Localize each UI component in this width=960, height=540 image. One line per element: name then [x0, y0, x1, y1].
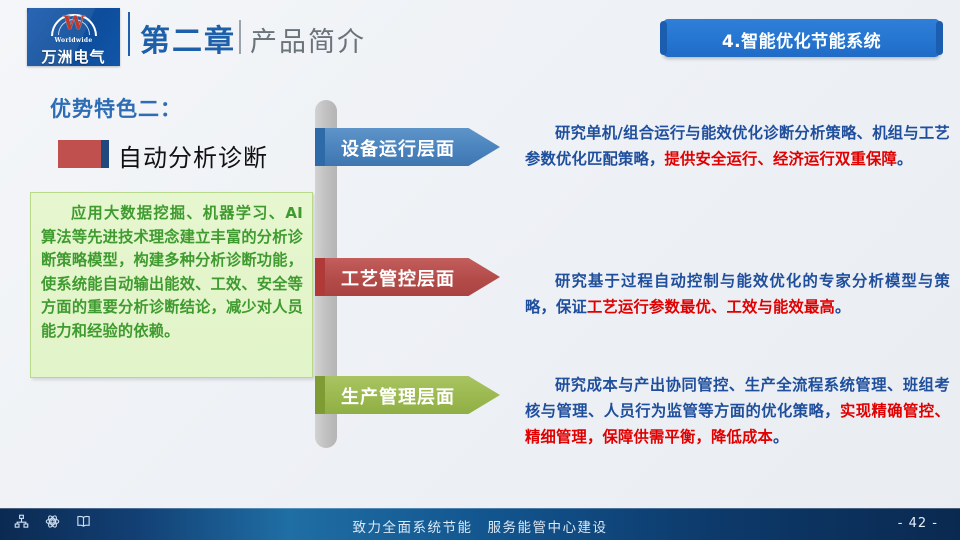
advantage-title: 优势特色二： [50, 93, 182, 123]
company-logo: W Worldwide 万洲电气 [27, 8, 120, 66]
footer-slogan: 致力全面系统节能 服务能管中心建设 [0, 516, 960, 536]
description-text: 应用大数据挖掘、机器学习、AI算法等先进技术理念建立丰富的分析诊断策略模型，构建… [41, 202, 303, 343]
chapter-divider [239, 20, 241, 54]
logo-w-letter: W [63, 13, 83, 33]
layer-arrow-production[interactable]: 生产管理层面 [325, 376, 500, 414]
layer-description-equipment: 研究单机/组合运行与能效优化诊断分析策略、机组与工艺参数优化匹配策略，提供安全运… [525, 120, 950, 172]
layer-text-tail: 。 [835, 298, 851, 316]
footer-page-number: - 42 - [898, 516, 938, 531]
topic-banner-label: 4.智能优化节能系统 [663, 27, 940, 52]
layer-arrow-label: 生产管理层面 [341, 383, 455, 409]
layer-text-tail: 。 [897, 150, 913, 168]
slide-header: W Worldwide 万洲电气 第二章 产品简介 4.智能优化节能系统 [0, 0, 960, 70]
feature-name: 自动分析诊断 [118, 138, 268, 173]
slide-footer: 致力全面系统节能 服务能管中心建设 - 42 - [0, 508, 960, 540]
chapter-title: 第二章 [140, 16, 236, 60]
layer-description-production: 研究成本与产出协同管控、生产全流程系统管理、班组考核与管理、人员行为监管等方面的… [525, 372, 950, 450]
logo-latin-name: Worldwide [27, 37, 120, 44]
layer-text-tail: 。 [773, 428, 789, 446]
layer-arrow-equipment[interactable]: 设备运行层面 [325, 128, 500, 166]
description-box: 应用大数据挖掘、机器学习、AI算法等先进技术理念建立丰富的分析诊断策略模型，构建… [30, 192, 313, 378]
bullet-square-icon [58, 140, 101, 168]
logo-chinese-name: 万洲电气 [27, 46, 120, 66]
topic-banner: 4.智能优化节能系统 [663, 19, 940, 57]
layer-arrow-label: 工艺管控层面 [341, 265, 455, 291]
chapter-subtitle: 产品简介 [250, 20, 366, 59]
layer-text-emphasis: 工艺运行参数最优、工效与能效最高 [587, 298, 835, 316]
layer-text-emphasis: 提供安全运行、经济运行双重保障 [664, 150, 896, 168]
layer-arrow-process[interactable]: 工艺管控层面 [325, 258, 500, 296]
slide: W Worldwide 万洲电气 第二章 产品简介 4.智能优化节能系统 优势特… [0, 0, 960, 540]
bullet-bar-icon [101, 140, 109, 168]
logo-emblem-icon: W [27, 12, 120, 38]
layer-arrow-label: 设备运行层面 [341, 135, 455, 161]
layer-description-process: 研究基于过程自动控制与能效优化的专家分析模型与策略，保证工艺运行参数最优、工效与… [525, 268, 950, 320]
header-accent-rule [128, 12, 130, 56]
